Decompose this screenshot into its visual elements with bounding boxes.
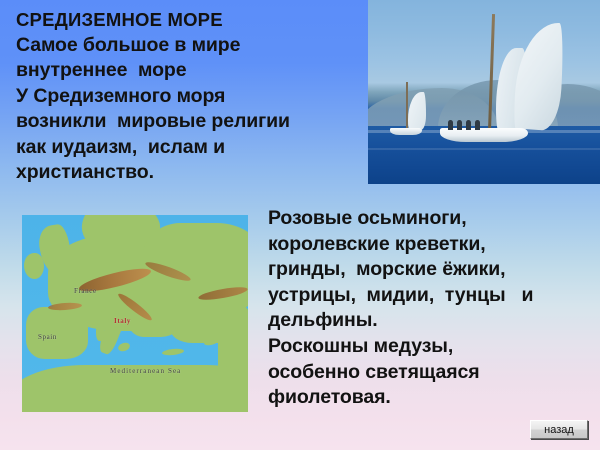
- map-landmass-ireland: [24, 253, 44, 279]
- right-text-line-3: гринды, морские ёжики,: [268, 257, 598, 283]
- map-label-spain: Spain: [38, 333, 57, 341]
- left-text-block: СРЕДИЗЕМНОЕ МОРЕ Самое большое в мире вн…: [16, 7, 366, 186]
- map-label-france: France: [74, 287, 97, 295]
- left-text-line-5: как иудаизм, ислам и: [16, 135, 366, 161]
- left-text-line-1: Самое большое в мире: [16, 33, 366, 59]
- right-text-line-1: Розовые осьминоги,: [268, 206, 598, 232]
- map-label-italy: Italy: [114, 317, 131, 325]
- right-text-block: Розовые осьминоги, королевские креветки,…: [268, 206, 598, 411]
- small-boat-hull: [390, 128, 422, 135]
- map-label-mediterranean-sea: Mediterranean Sea: [110, 367, 181, 375]
- map-island-sardinia: [96, 323, 104, 341]
- left-text-line-6: христианство.: [16, 160, 366, 186]
- large-boat-hull: [440, 128, 528, 142]
- map-landmass-iberia: [26, 307, 88, 359]
- slide-canvas: СРЕДИЗЕМНОЕ МОРЕ Самое большое в мире вн…: [0, 0, 600, 450]
- left-text-line-3: У Средиземного моря: [16, 84, 366, 110]
- right-text-line-5: дельфины.: [268, 308, 598, 334]
- sailboats-photo: [368, 0, 600, 184]
- mediterranean-relief-map: France Italy Spain Mediterranean Sea: [22, 215, 248, 412]
- boat-crew: [448, 120, 484, 130]
- left-text-line-4: возникли мировые религии: [16, 109, 366, 135]
- right-text-line-8: фиолетовая.: [268, 385, 598, 411]
- right-text-line-6: Роскошны медузы,: [268, 334, 598, 360]
- left-text-line-2: внутреннее море: [16, 58, 366, 84]
- right-text-line-2: королевские креветки,: [268, 232, 598, 258]
- back-button[interactable]: назад: [530, 420, 588, 439]
- page-title: СРЕДИЗЕМНОЕ МОРЕ: [16, 7, 366, 33]
- map-island-corsica: [96, 311, 103, 323]
- right-text-line-7: особенно светящаяся: [268, 360, 598, 386]
- right-text-line-4: устрицы, мидии, тунцы и: [268, 283, 598, 309]
